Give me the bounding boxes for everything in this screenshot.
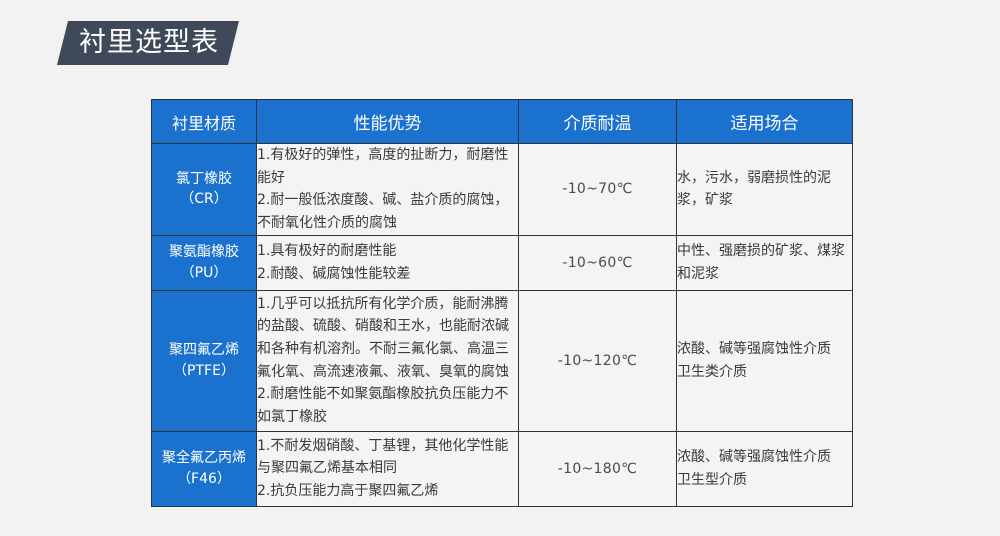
table-header: 衬里材质 性能优势 介质耐温 适用场合 — [152, 100, 853, 144]
material-name: 聚全氟乙丙烯 — [152, 448, 256, 468]
cell-temperature: -10~70℃ — [519, 144, 677, 236]
application-line: 卫生类介质 — [677, 361, 852, 384]
table-row: 聚四氟乙烯 （PTFE） 1.几乎可以抵抗所有化学介质，能耐沸腾的盐酸、硫酸、硝… — [152, 290, 853, 431]
lining-selection-table: 衬里材质 性能优势 介质耐温 适用场合 氯丁橡胶 （CR） 1.有极好的弹性，高… — [151, 99, 853, 507]
table-row: 氯丁橡胶 （CR） 1.有极好的弹性，高度的扯断力，耐磨性能好 2.耐一般低浓度… — [152, 144, 853, 236]
application-line: 水，污水，弱磨损性的泥浆，矿浆 — [677, 167, 852, 212]
cell-application: 中性、强磨损的矿浆、煤浆和泥浆 — [677, 235, 853, 290]
application-line: 浓酸、碱等强腐蚀性介质 — [677, 446, 852, 469]
lining-selection-table-wrapper: 衬里材质 性能优势 介质耐温 适用场合 氯丁橡胶 （CR） 1.有极好的弹性，高… — [151, 99, 852, 507]
performance-line: 1.具有极好的耐磨性能 — [257, 240, 518, 263]
performance-line: 1.有极好的弹性，高度的扯断力，耐磨性能好 — [257, 144, 518, 189]
application-line: 卫生型介质 — [677, 469, 852, 492]
performance-line: 1.几乎可以抵抗所有化学介质，能耐沸腾的盐酸、硫酸、硝酸和王水，也能耐浓碱和各种… — [257, 293, 518, 384]
cell-material: 聚四氟乙烯 （PTFE） — [152, 290, 257, 431]
cell-temperature: -10~120℃ — [519, 290, 677, 431]
column-header-performance: 性能优势 — [257, 100, 519, 144]
application-line: 浓酸、碱等强腐蚀性介质 — [677, 338, 852, 361]
cell-application: 水，污水，弱磨损性的泥浆，矿浆 — [677, 144, 853, 236]
cell-performance: 1.具有极好的耐磨性能 2.耐酸、碱腐蚀性能较差 — [257, 235, 519, 290]
cell-material: 聚氨酯橡胶 （PU） — [152, 235, 257, 290]
cell-performance: 1.不耐发烟硝酸、丁基锂，其他化学性能与聚四氟乙烯基本相同 2.抗负压能力高于聚… — [257, 431, 519, 506]
material-abbreviation: （F46） — [152, 469, 256, 489]
material-abbreviation: （PU） — [152, 263, 256, 283]
material-name: 聚氨酯橡胶 — [152, 242, 256, 262]
column-header-temperature: 介质耐温 — [519, 100, 677, 144]
cell-performance: 1.有极好的弹性，高度的扯断力，耐磨性能好 2.耐一般低浓度酸、碱、盐介质的腐蚀… — [257, 144, 519, 236]
column-header-material: 衬里材质 — [152, 100, 257, 144]
performance-line: 2.耐酸、碱腐蚀性能较差 — [257, 263, 518, 286]
table-body: 氯丁橡胶 （CR） 1.有极好的弹性，高度的扯断力，耐磨性能好 2.耐一般低浓度… — [152, 144, 853, 507]
table-row: 聚氨酯橡胶 （PU） 1.具有极好的耐磨性能 2.耐酸、碱腐蚀性能较差 -10~… — [152, 235, 853, 290]
application-line: 中性、强磨损的矿浆、煤浆和泥浆 — [677, 240, 852, 285]
cell-material: 氯丁橡胶 （CR） — [152, 144, 257, 236]
performance-line: 2.耐磨性能不如聚氨酯橡胶抗负压能力不如氯丁橡胶 — [257, 383, 518, 428]
page-title-banner: 衬里选型表 — [57, 21, 239, 65]
material-abbreviation: （CR） — [152, 189, 256, 209]
cell-application: 浓酸、碱等强腐蚀性介质 卫生类介质 — [677, 290, 853, 431]
page-title: 衬里选型表 — [57, 21, 239, 65]
cell-temperature: -10~180℃ — [519, 431, 677, 506]
material-name: 聚四氟乙烯 — [152, 340, 256, 360]
cell-performance: 1.几乎可以抵抗所有化学介质，能耐沸腾的盐酸、硫酸、硝酸和王水，也能耐浓碱和各种… — [257, 290, 519, 431]
cell-temperature: -10~60℃ — [519, 235, 677, 290]
table-header-row: 衬里材质 性能优势 介质耐温 适用场合 — [152, 100, 853, 144]
cell-application: 浓酸、碱等强腐蚀性介质 卫生型介质 — [677, 431, 853, 506]
performance-line: 2.耐一般低浓度酸、碱、盐介质的腐蚀，不耐氧化性介质的腐蚀 — [257, 189, 518, 234]
column-header-application: 适用场合 — [677, 100, 853, 144]
material-abbreviation: （PTFE） — [152, 361, 256, 381]
table-row: 聚全氟乙丙烯 （F46） 1.不耐发烟硝酸、丁基锂，其他化学性能与聚四氟乙烯基本… — [152, 431, 853, 506]
material-name: 氯丁橡胶 — [152, 169, 256, 189]
performance-line: 1.不耐发烟硝酸、丁基锂，其他化学性能与聚四氟乙烯基本相同 — [257, 435, 518, 480]
cell-material: 聚全氟乙丙烯 （F46） — [152, 431, 257, 506]
performance-line: 2.抗负压能力高于聚四氟乙烯 — [257, 480, 518, 503]
